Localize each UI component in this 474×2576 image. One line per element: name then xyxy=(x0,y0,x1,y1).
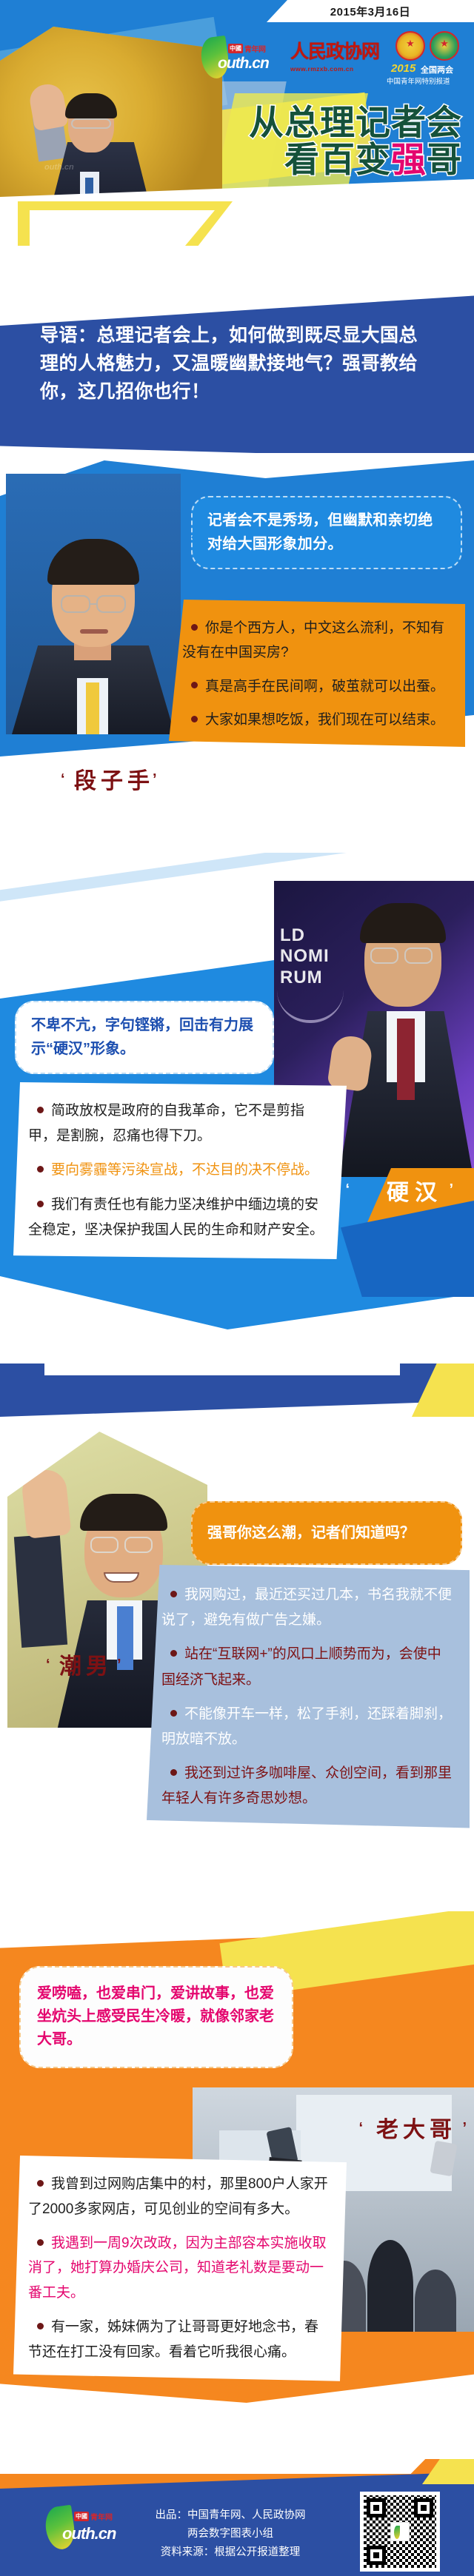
header-banner: 2015年3月16日 中國 青年网 outh.cn 人民政协网 www.rmzx… xyxy=(0,0,474,222)
section-yinghan: LDNOMIRUM 不卑不亢，字句铿锵，回击有力展示“硬汉”形象。 简政放权是政… xyxy=(0,853,474,1364)
section-duanzishou: 记者会不是秀场，但幽默和亲切绝对给大国形象加分。 你是个西方人，中文这么流利，不… xyxy=(0,453,474,853)
footer-credit-line-2: 两会数字图表小组 xyxy=(145,2525,316,2543)
list-item: 真是高手在民间啊，破茧就可以出蚕。 xyxy=(182,674,452,699)
footer-logo-cn-badge: 中國 xyxy=(74,2512,89,2521)
section3-top-white-strip xyxy=(44,1364,400,1375)
section1-portrait-photo xyxy=(6,474,181,734)
infographic-page: 2015年3月16日 中國 青年网 outh.cn 人民政协网 www.rmzx… xyxy=(0,0,474,2576)
youth-cn-logo[interactable]: 中國 青年网 outh.cn xyxy=(201,37,283,80)
cppcc-emblem-icon: ★ xyxy=(430,31,459,61)
bullet-dot-icon xyxy=(191,624,198,631)
quote-text: 有一家，姊妹俩为了让哥哥更好地念书，春节还在打工没有回家。看着它听我很心痛。 xyxy=(28,2319,318,2360)
footer-logo-outh: outh.cn xyxy=(62,2524,116,2543)
section3-headline-bubble: 强哥你这么潮，记者们知道吗？ xyxy=(191,1501,462,1565)
quote-text: 我们有责任也有能力坚决维护中缅边境的安全稳定，坚决保护我国人民的生命和财产安全。 xyxy=(28,1197,324,1238)
tag-quote-left-icon: ‘ xyxy=(46,1657,50,1674)
emblem-year: 2015 xyxy=(391,62,415,75)
list-item: 我遇到一周9次改政，因为主部容本实施收取消了，她打算办婚庆公司，知道老礼数是要动… xyxy=(28,2231,332,2306)
quote-text: 要向雾霾等污染宣战，不达目的决不停战。 xyxy=(51,1162,318,1178)
bullet-dot-icon xyxy=(170,1710,177,1717)
youth-logo-cn-badge: 中國 xyxy=(228,44,243,53)
list-item: 我还到过许多咖啡屋、众创空间，看到那里年轻人有许多奇思妙想。 xyxy=(161,1761,455,1811)
emblem-lianghui-label: 全国两会 xyxy=(421,64,453,76)
title-line-1: 从总理记者会 xyxy=(249,105,462,141)
section2-headline-bubble: 不卑不亢，字句铿锵，回击有力展示“硬汉”形象。 xyxy=(15,1001,274,1074)
list-item: 大家如果想吃饭，我们现在可以结束。 xyxy=(182,708,452,732)
title-line-2-suffix: 哥 xyxy=(427,140,462,179)
section2-tag-label: 硬汉 xyxy=(387,1174,443,1207)
bullet-dot-icon xyxy=(170,1591,177,1597)
rmzxb-logo-text: 人民政协网 xyxy=(290,37,381,64)
bullet-dot-icon xyxy=(37,2323,44,2330)
title-line-2-prefix: 看百变 xyxy=(284,140,391,179)
section-chaonan: 强哥你这么潮，记者们知道吗？ 我网购过，最近还买过几本，书名我就不便说了，避免有… xyxy=(0,1364,474,1911)
list-item: 要向雾霾等污染宣战，不达目的决不停战。 xyxy=(28,1158,332,1183)
section-laodage: 爱唠嗑，也爱串门，爱讲故事，也爱坐炕头上感受民生冷暖，就像邻家老大哥。 我曾到过… xyxy=(0,1911,474,2459)
intro-banner: 导语：总理记者会上，如何做到既尽显大国总理的人格魅力，又温暖幽默接地气？强哥教给… xyxy=(0,287,474,459)
footer-credit-line-1: 出品：中国青年网、人民政协网 xyxy=(145,2506,316,2525)
footer-credit-line-3: 资料来源：根据公开报道整理 xyxy=(145,2543,316,2562)
footer-white-wedge xyxy=(0,2459,437,2474)
youth-logo-outh: outh.cn xyxy=(218,55,269,73)
section4-quote-card: 我曾到过网购店集中的村，那里800户人家开了2000多家网店，可见创业的空间有多… xyxy=(13,2156,347,2381)
bullet-dot-icon xyxy=(37,1201,44,1207)
page-title: 从总理记者会 看百变强哥 xyxy=(249,105,462,178)
bullet-dot-icon xyxy=(191,716,198,722)
section3-tag-label: 潮男 xyxy=(59,1648,113,1680)
tag-quote-left-icon: ‘ xyxy=(61,771,65,788)
bullet-dot-icon xyxy=(170,1769,177,1776)
rmzxb-logo[interactable]: 人民政协网 www.rmzxb.com.cn xyxy=(290,37,381,80)
youth-logo-cn-text: 青年网 xyxy=(244,43,266,54)
lianghui-emblems: ★ ★ 2015 全国两会 中国青年网特别报道 xyxy=(391,31,470,80)
quote-text: 我还到过许多咖啡屋、众创空间，看到那里年轻人有许多奇思妙想。 xyxy=(161,1765,452,1806)
tag-quote-right-icon: ’ xyxy=(462,2120,467,2137)
section1-quote-card: 你是个西方人，中文这么流利，不知有没有在中国买房? 真是高手在民间啊，破茧就可以… xyxy=(169,600,465,747)
qr-eye-icon xyxy=(367,2498,386,2518)
quote-text: 真是高手在民间啊，破茧就可以出蚕。 xyxy=(205,679,444,694)
list-item: 有一家，姊妹俩为了让哥哥更好地念书，春节还在打工没有回家。看着它听我很心痛。 xyxy=(28,2315,332,2365)
national-emblem-icon: ★ xyxy=(395,31,425,61)
section4-tag-label: 老大哥 xyxy=(376,2111,456,2144)
list-item: 我曾到过网购店集中的村，那里800户人家开了2000多家网店，可见创业的空间有多… xyxy=(28,2172,332,2222)
bullet-dot-icon xyxy=(37,2180,44,2187)
footer-bar: 中國 青年网 outh.cn 出品：中国青年网、人民政协网 两会数字图表小组 资… xyxy=(0,2459,474,2576)
quote-text: 简政放权是政府的自我革命，它不是剪指甲，是割腕，忍痛也得下刀。 xyxy=(28,1103,304,1144)
rmzxb-logo-url: www.rmzxb.com.cn xyxy=(290,65,381,73)
intro-text: 导语：总理记者会上，如何做到既尽显大国总理的人格魅力，又温暖幽默接地气？强哥教给… xyxy=(40,321,435,406)
header-portrait-photo xyxy=(0,27,222,216)
quote-text: 我曾到过网购店集中的村，那里800户人家开了2000多家网店，可见创业的空间有多… xyxy=(28,2176,328,2217)
quote-text: 大家如果想吃饭，我们现在可以结束。 xyxy=(205,712,444,728)
qr-eye-icon xyxy=(414,2498,433,2518)
tag-quote-left-icon: ‘ xyxy=(358,2120,363,2137)
section4-headline-bubble: 爱唠嗑，也爱串门，爱讲故事，也爱坐炕头上感受民生冷暖，就像邻家老大哥。 xyxy=(19,1966,293,2068)
footer-youth-cn-logo[interactable]: 中國 青年网 outh.cn xyxy=(46,2506,129,2552)
list-item: 你是个西方人，中文这么流利，不知有没有在中国买房? xyxy=(182,616,452,665)
quote-text: 你是个西方人，中文这么流利，不知有没有在中国买房? xyxy=(182,620,444,660)
tag-quote-right-icon: ’ xyxy=(117,1657,121,1674)
bullet-dot-icon xyxy=(170,1650,177,1657)
publish-date: 2015年3月16日 xyxy=(267,0,474,22)
qr-eye-icon xyxy=(367,2546,386,2565)
section1-tag-label: 段子手 xyxy=(74,762,154,795)
quote-text: 我网购过，最近还买过几本，书名我就不便说了，避免有做广告之嫌。 xyxy=(161,1587,452,1628)
bullet-dot-icon xyxy=(37,1166,44,1173)
footer-logo-cn-text: 青年网 xyxy=(90,2511,113,2522)
bullet-dot-icon xyxy=(37,2239,44,2246)
list-item: 简政放权是政府的自我革命，它不是剪指甲，是割腕，忍痛也得下刀。 xyxy=(28,1099,332,1149)
portrait-frame-white xyxy=(30,210,215,246)
section1-headline-bubble: 记者会不是秀场，但幽默和亲切绝对给大国形象加分。 xyxy=(191,496,462,569)
tag-quote-right-icon: ’ xyxy=(449,1181,453,1198)
title-highlight-char: 强 xyxy=(391,140,427,179)
emblem-subtitle: 中国青年网特别报道 xyxy=(387,76,450,86)
title-line-2: 看百变强哥 xyxy=(249,142,462,178)
section3-quote-card: 我网购过，最近还买过几本，书名我就不便说了，避免有做广告之嫌。 站在“互联网+”… xyxy=(147,1565,470,1828)
list-item: 站在“互联网+”的风口上顺势而为，会使中国经济飞起来。 xyxy=(161,1642,455,1692)
bullet-dot-icon xyxy=(37,1107,44,1113)
intro-top-wedge xyxy=(0,287,474,326)
wef-backdrop-text: LDNOMIRUM xyxy=(280,925,330,988)
list-item: 不能像开车一样，松了手刹，还踩着脚刹，明放暗不放。 xyxy=(161,1702,455,1752)
qr-center-logo-icon xyxy=(390,2522,410,2541)
section2-quote-card: 简政放权是政府的自我革命，它不是剪指甲，是割腕，忍痛也得下刀。 要向雾霾等污染宣… xyxy=(13,1082,347,1259)
tag-quote-left-icon: ‘ xyxy=(345,1181,350,1198)
list-item: 我们有责任也有能力坚决维护中缅边境的安全稳定，坚决保护我国人民的生命和财产安全。 xyxy=(28,1193,332,1243)
tag-quote-right-icon: ’ xyxy=(153,771,157,788)
quote-text: 我遇到一周9次改政，因为主部容本实施收取消了，她打算办婚庆公司，知道老礼数是要动… xyxy=(28,2235,327,2301)
footer-credits: 出品：中国青年网、人民政协网 两会数字图表小组 资料来源：根据公开报道整理 xyxy=(145,2506,316,2562)
bullet-dot-icon xyxy=(191,682,198,688)
quote-text: 不能像开车一样，松了手刹，还踩着脚刹，明放暗不放。 xyxy=(161,1706,452,1747)
list-item: 我网购过，最近还买过几本，书名我就不便说了，避免有做广告之嫌。 xyxy=(161,1583,455,1633)
quote-text: 站在“互联网+”的风口上顺势而为，会使中国经济飞起来。 xyxy=(161,1646,441,1687)
qr-code[interactable] xyxy=(360,2492,440,2572)
